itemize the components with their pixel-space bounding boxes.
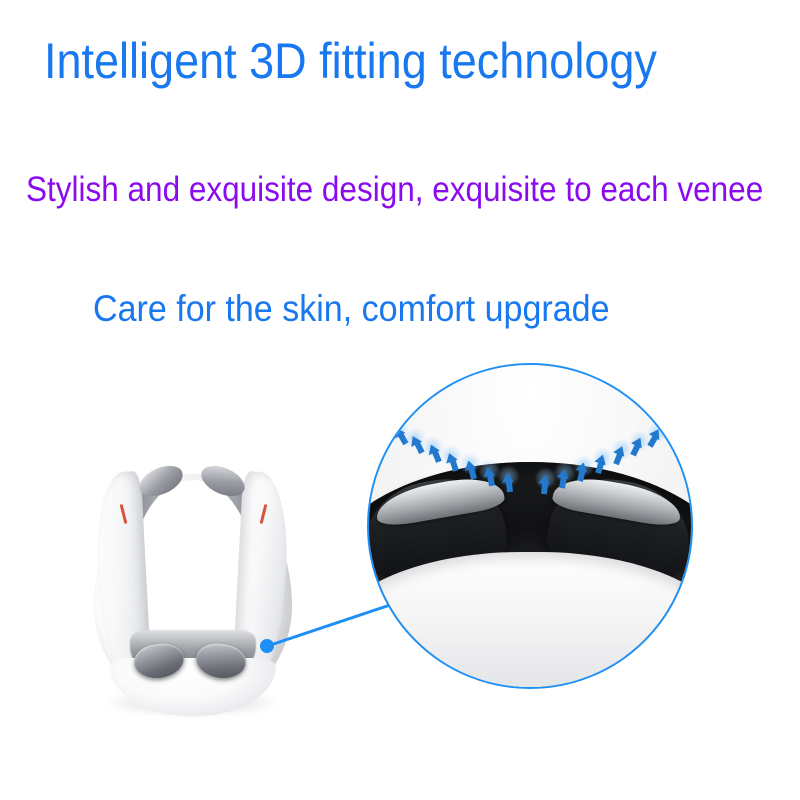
magnified-detail-circle [367,363,693,689]
tagline-text: Care for the skin, comfort upgrade [93,290,610,327]
magnifier-white-body [367,552,693,689]
subtitle-text: Stylish and exquisite design, exquisite … [26,172,763,207]
callout-anchor-dot [260,639,274,653]
energy-arrow-right-1 [537,474,552,494]
energy-arrow-left-8 [501,472,516,492]
page-title: Intelligent 3D fitting technology [44,36,657,86]
energy-arrow-stem [577,470,585,482]
energy-arrow-stem [505,481,512,493]
energy-arrow-stem [559,477,567,489]
energy-arrow-left-7 [482,466,498,487]
energy-arrow-stem [541,483,548,495]
product-image-neck-massager [86,462,300,730]
marketing-banner: Intelligent 3D fitting technology Stylis… [0,0,800,800]
